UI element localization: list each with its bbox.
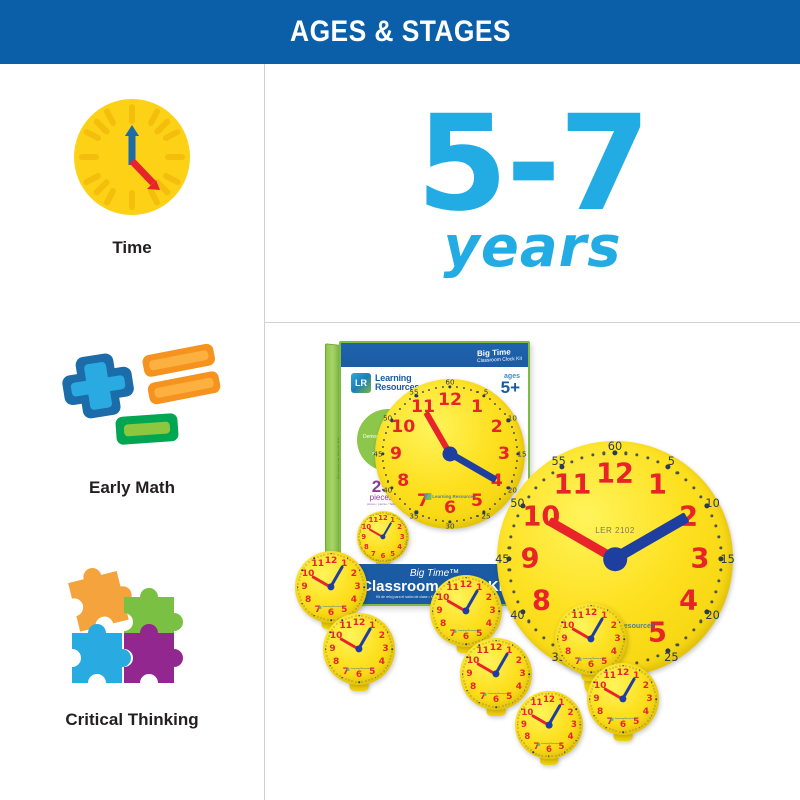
clock-minute-number: 40 <box>510 608 524 622</box>
clock-brand-mark: Learning Resources <box>347 668 372 671</box>
clock-hour-number: 8 <box>524 732 530 742</box>
age-range-unit: years <box>443 220 621 276</box>
clock-minute-number: 40 <box>383 486 392 495</box>
clock-brand-mark: Learning Resources <box>319 606 344 609</box>
clock-hour-number: 8 <box>333 657 339 667</box>
clock-hour-number: 2 <box>379 631 385 641</box>
clock-center-pin <box>443 447 458 462</box>
clock-hour-number: 3 <box>400 533 405 541</box>
clock-hour-number: 3 <box>489 606 495 616</box>
clock-minute-number: 5 <box>484 387 489 396</box>
feature-item-time: Time <box>0 82 264 259</box>
clock-hour-number: 3 <box>354 582 360 592</box>
clock-brand-mark: Learning Resources <box>454 630 479 633</box>
clock-hour-number: 2 <box>643 681 649 691</box>
clock-hour-number: 9 <box>521 544 540 575</box>
student-clock: 121234567891011Learning Resources <box>323 613 395 685</box>
clock-minute-number: 35 <box>409 512 418 521</box>
clock-hour-number: 12 <box>585 608 598 618</box>
clock-brand-mark: Learning Resources <box>579 658 604 661</box>
clock-hour-number: 2 <box>516 656 522 666</box>
feature-item-critical-thinking: Critical Thinking <box>0 554 264 731</box>
product-image-panel: Classroom Clock Kit Big Time Classroom C… <box>265 323 800 800</box>
clock-hour-number: 9 <box>561 634 567 644</box>
clock-hour-number: 12 <box>543 695 555 705</box>
clock-hour-number: 11 <box>531 698 543 708</box>
clock-brand-mark: Learning Resources <box>537 743 561 746</box>
clock-minute-number: 25 <box>664 650 678 664</box>
clock-hour-number: 4 <box>397 543 402 551</box>
clock-hour-number: 4 <box>568 732 574 742</box>
clock-center-pin <box>603 547 627 571</box>
clock-hour-number: 11 <box>312 559 325 569</box>
clock-hour-number: 6 <box>493 695 499 705</box>
clock-hour-number: 9 <box>466 669 472 679</box>
feature-item-early-math: Early Math <box>0 322 264 499</box>
clock-hour-number: 3 <box>691 544 710 575</box>
clock-hour-number: 4 <box>379 657 385 667</box>
clock-hour-number: 11 <box>369 516 378 524</box>
age-range-panel: 5-7 years <box>265 64 800 322</box>
clock-hour-number: 1 <box>471 397 483 417</box>
demo-clock-model: LER 2102 <box>595 526 635 535</box>
clock-hour-number: 8 <box>440 619 446 629</box>
clock-hour-number: 4 <box>486 619 492 629</box>
age-range-value: 5-7 <box>416 110 648 218</box>
clock-hour-number: 8 <box>397 471 409 491</box>
clock-minute-number: 55 <box>409 387 418 396</box>
clock-brand-mark: Learning Resources <box>484 693 509 696</box>
clock-hour-number: 12 <box>438 390 462 410</box>
clock-brand-mark: Learning Resources <box>424 493 475 500</box>
clock-hour-number: 6 <box>381 552 386 560</box>
puzzle-pieces-icon <box>0 554 264 704</box>
clock-hour-number: 12 <box>596 459 634 490</box>
clock-minute-number: 5 <box>668 454 675 468</box>
clock-hour-number: 3 <box>571 720 577 730</box>
student-clock: 121234567891011Learning Resources <box>430 575 502 647</box>
clock-center-pin <box>619 695 626 702</box>
clock-hour-number: 8 <box>305 595 311 605</box>
clock-minute-number: 60 <box>608 439 622 453</box>
box-top-strip: Big Time Classroom Clock Kit <box>341 343 528 367</box>
clock-center-pin <box>355 645 362 652</box>
feature-label-critical-thinking: Critical Thinking <box>0 710 264 731</box>
clock-hour-number: 5 <box>390 550 395 558</box>
clock-minute-number: 25 <box>481 512 490 521</box>
clock-hour-number: 8 <box>364 543 369 551</box>
clock-hour-number: 8 <box>470 682 476 692</box>
clock-hour-number: 12 <box>490 643 503 653</box>
clock-hour-number: 2 <box>486 593 492 603</box>
clock-hour-number: 9 <box>521 720 527 730</box>
clock-icon <box>0 82 264 232</box>
math-symbols-icon <box>0 322 264 472</box>
clock-hour-number: 4 <box>679 586 698 617</box>
clock-hour-number: 6 <box>444 498 456 518</box>
feature-list: Time <box>0 64 264 800</box>
header-banner: AGES & STAGES <box>0 0 800 64</box>
clock-hour-number: 3 <box>614 634 620 644</box>
clock-hour-number: 11 <box>572 611 585 621</box>
clock-center-pin <box>546 722 553 729</box>
clock-hour-number: 4 <box>611 647 617 657</box>
clock-hour-number: 2 <box>491 417 503 437</box>
page-title: AGES & STAGES <box>290 15 511 49</box>
clock-center-pin <box>327 583 334 590</box>
clock-hour-number: 11 <box>340 621 353 631</box>
clock-hour-number: 6 <box>356 670 362 680</box>
clock-hour-number: 8 <box>597 707 603 717</box>
clock-hour-number: 12 <box>325 556 338 566</box>
brand-cube-icon: LR <box>351 373 371 393</box>
clock-hour-number: 9 <box>301 582 307 592</box>
student-clock: 121234567891011Learning Resources <box>515 691 583 759</box>
clock-hour-number: 4 <box>351 595 357 605</box>
clock-center-pin <box>462 607 469 614</box>
clock-hour-number: 11 <box>447 583 460 593</box>
clock-hour-number: 9 <box>593 694 599 704</box>
clock-hour-number: 6 <box>620 720 626 730</box>
clock-hour-number: 3 <box>519 669 525 679</box>
clock-hour-number: 2 <box>611 621 617 631</box>
clock-minute-number: 50 <box>510 496 524 510</box>
clock-minute-number: 30 <box>445 522 454 531</box>
clock-hour-number: 12 <box>353 618 366 628</box>
clock-minute-number: 45 <box>373 450 382 459</box>
box-top-strip-text: Big Time Classroom Clock Kit <box>477 346 522 363</box>
student-clock: 121234567891011Learning Resources <box>587 663 659 735</box>
clock-hour-number: 9 <box>436 606 442 616</box>
ages-and-stages-card: AGES & STAGES <box>0 0 800 800</box>
clock-hour-number: 7 <box>371 550 376 558</box>
clock-minute-number: 60 <box>445 378 454 387</box>
clock-minute-number: 10 <box>705 496 719 510</box>
clock-minute-number: 20 <box>705 608 719 622</box>
clock-brand-mark: Learning Resources <box>611 718 636 721</box>
clock-hour-number: 1 <box>648 470 667 501</box>
feature-label-early-math: Early Math <box>0 478 264 499</box>
clock-hour-number: 10 <box>391 417 415 437</box>
clock-hour-number: 9 <box>390 444 402 464</box>
clock-minute-number: 45 <box>495 552 509 566</box>
clock-hour-number: 2 <box>568 708 574 718</box>
clock-hour-number: 6 <box>546 745 552 755</box>
clock-minute-number: 55 <box>551 454 565 468</box>
clock-hour-number: 8 <box>532 586 551 617</box>
clock-hour-number: 8 <box>565 647 571 657</box>
clock-center-pin <box>380 534 385 539</box>
clock-hour-number: 11 <box>554 470 592 501</box>
clock-minute-number: 15 <box>720 552 734 566</box>
feature-label-time: Time <box>0 238 264 259</box>
clock-hour-number: 9 <box>329 644 335 654</box>
clock-hour-number: 2 <box>397 523 402 531</box>
clock-hour-number: 11 <box>477 646 490 656</box>
clock-hour-number: 12 <box>460 580 473 590</box>
clock-hour-number: 3 <box>646 694 652 704</box>
clock-minute-number: 50 <box>383 414 392 423</box>
clock-hour-number: 4 <box>643 707 649 717</box>
clock-hour-number: 9 <box>361 533 366 541</box>
clock-hour-number: 12 <box>378 514 387 522</box>
clock-hour-number: 12 <box>617 668 630 678</box>
clock-hour-number: 3 <box>382 644 388 654</box>
clock-hour-number: 2 <box>351 569 357 579</box>
clock-hour-number: 11 <box>604 671 617 681</box>
clock-center-pin <box>587 635 594 642</box>
clock-minute-number: 10 <box>508 414 517 423</box>
clock-center-pin <box>492 670 499 677</box>
